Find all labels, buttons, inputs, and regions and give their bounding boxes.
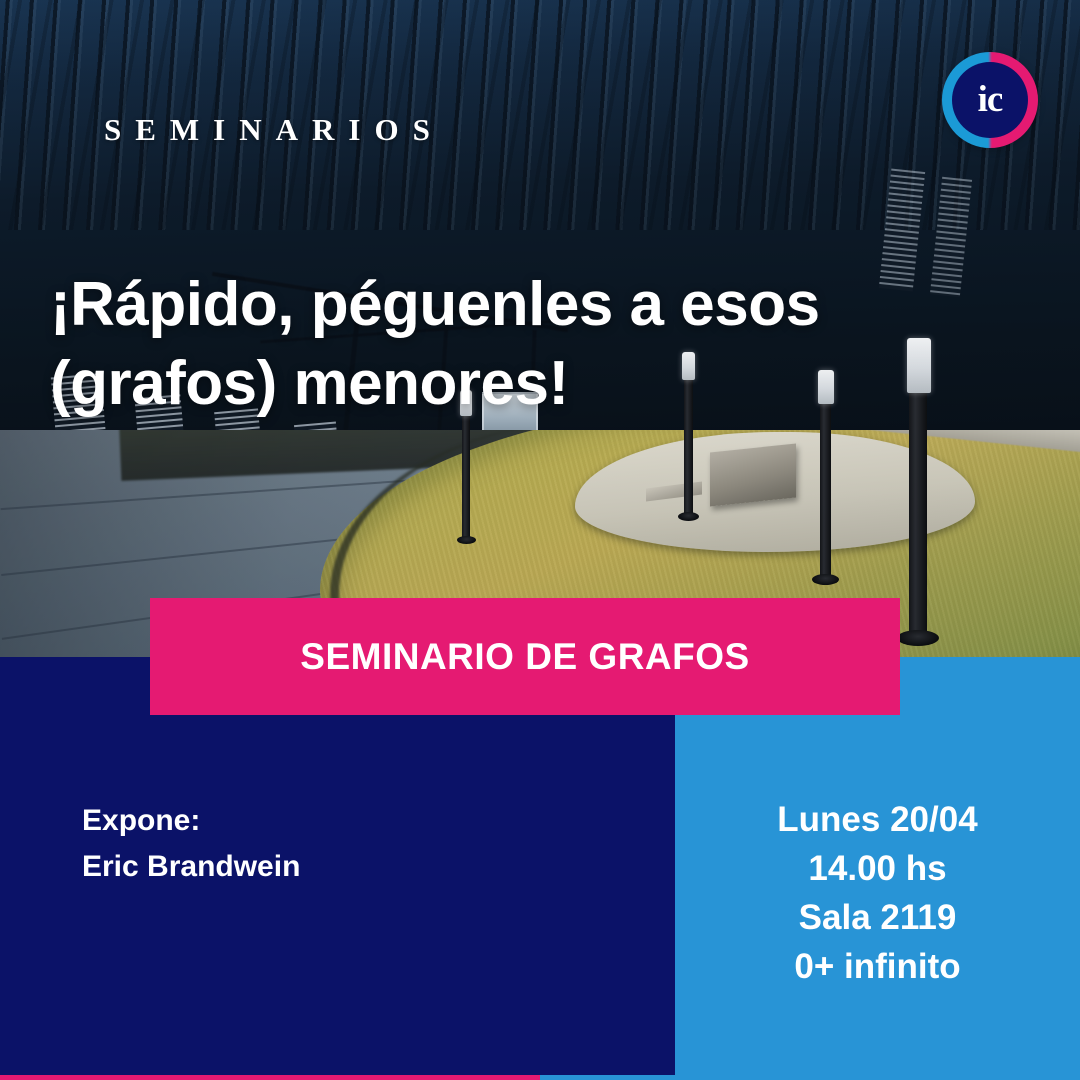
speaker-label: Expone:: [82, 798, 300, 844]
seminar-banner-label: SEMINARIO DE GRAFOS: [300, 636, 749, 678]
detail-time: 14.00 hs: [675, 844, 1080, 893]
page-title: ¡Rápido, péguenles a esos (grafos) menor…: [50, 265, 1060, 424]
speaker-info: Expone: Eric Brandwein: [82, 798, 300, 889]
ic-logo-text: ic: [952, 62, 1028, 138]
detail-capacity: 0+ infinito: [675, 942, 1080, 991]
seminar-banner: SEMINARIO DE GRAFOS: [150, 598, 900, 715]
kicker-label: SEMINARIOS: [104, 112, 444, 148]
stone-bench: [710, 443, 796, 506]
poster-canvas: ic SEMINARIOS ¡Rápido, péguenles a esos …: [0, 0, 1080, 1080]
event-details: Lunes 20/04 14.00 hs Sala 2119 0+ infini…: [675, 795, 1080, 991]
bottom-strip-blue: [540, 1075, 1080, 1080]
bottom-strip-pink: [0, 1075, 540, 1080]
detail-date: Lunes 20/04: [675, 795, 1080, 844]
ic-logo[interactable]: ic: [942, 52, 1038, 148]
speaker-name: Eric Brandwein: [82, 844, 300, 890]
detail-room: Sala 2119: [675, 893, 1080, 942]
